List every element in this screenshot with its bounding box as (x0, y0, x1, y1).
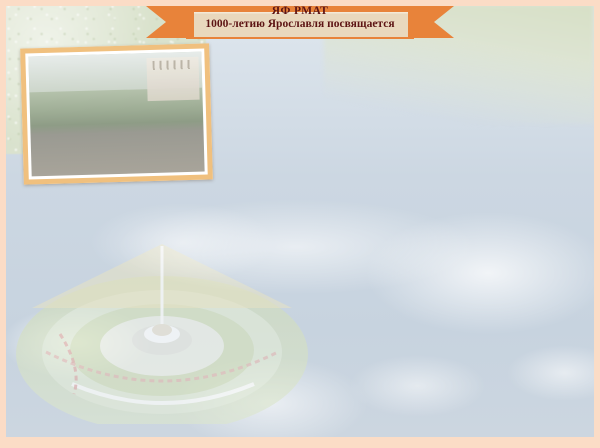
bench-trees (29, 66, 203, 126)
tree-trunk (30, 119, 204, 177)
ribbon-line-2: 1000-летию Ярославля посвящается (146, 18, 454, 31)
presentation-slide: На Стрелке оформили, пожалуй, самую люби… (0, 0, 600, 448)
title-ribbon: ЯФ РМАТ 1000-летию Ярославля посвящается (146, 1, 454, 43)
ribbon-text-block: ЯФ РМАТ 1000-летию Ярославля посвящается (146, 5, 454, 31)
headline-glow (46, 182, 546, 312)
bench-photo-content (28, 52, 204, 177)
ribbon-line-1: ЯФ РМАТ (146, 5, 454, 18)
bench-photo[interactable] (20, 43, 213, 184)
